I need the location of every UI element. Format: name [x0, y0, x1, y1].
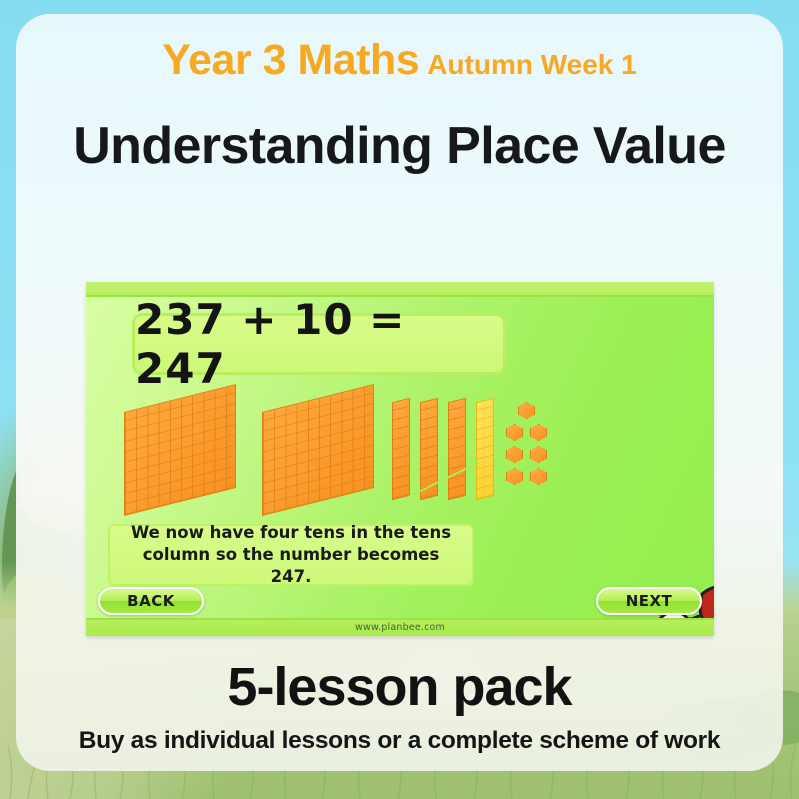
explanation-text: We now have four tens in the tens column…	[108, 524, 474, 586]
header-kicker: Year 3 MathsAutumn Week 1	[0, 36, 799, 85]
next-button[interactable]: NEXT	[596, 587, 702, 615]
tens-rod	[448, 398, 466, 500]
ones-cube	[530, 424, 547, 441]
back-button[interactable]: BACK	[98, 587, 204, 615]
ones-cube	[506, 446, 523, 463]
hundreds-flat	[124, 384, 236, 516]
term-label: Autumn Week 1	[427, 49, 637, 80]
ones-cube	[530, 468, 547, 485]
ones-cube	[506, 468, 523, 485]
ones-cube	[518, 402, 535, 419]
ones-cube	[530, 446, 547, 463]
equation-box: 237 + 10 = 247	[132, 313, 506, 375]
hundreds-flat	[262, 384, 374, 516]
tens-rod	[392, 398, 410, 500]
ones-cube	[506, 424, 523, 441]
pack-label: 5-lesson pack	[0, 656, 799, 718]
tens-rod-highlighted	[476, 398, 494, 500]
page-title: Understanding Place Value	[68, 118, 731, 175]
pack-subline: Buy as individual lessons or a complete …	[0, 727, 799, 755]
watermark-url: www.planbee.com	[86, 622, 714, 633]
lesson-slide-preview[interactable]: 237 + 10 = 247 We now have four tens in …	[86, 282, 714, 636]
product-thumbnail: Year 3 MathsAutumn Week 1 Understanding …	[0, 0, 799, 799]
subject-label: Year 3 Maths	[162, 36, 419, 84]
base-ten-blocks	[114, 392, 514, 502]
